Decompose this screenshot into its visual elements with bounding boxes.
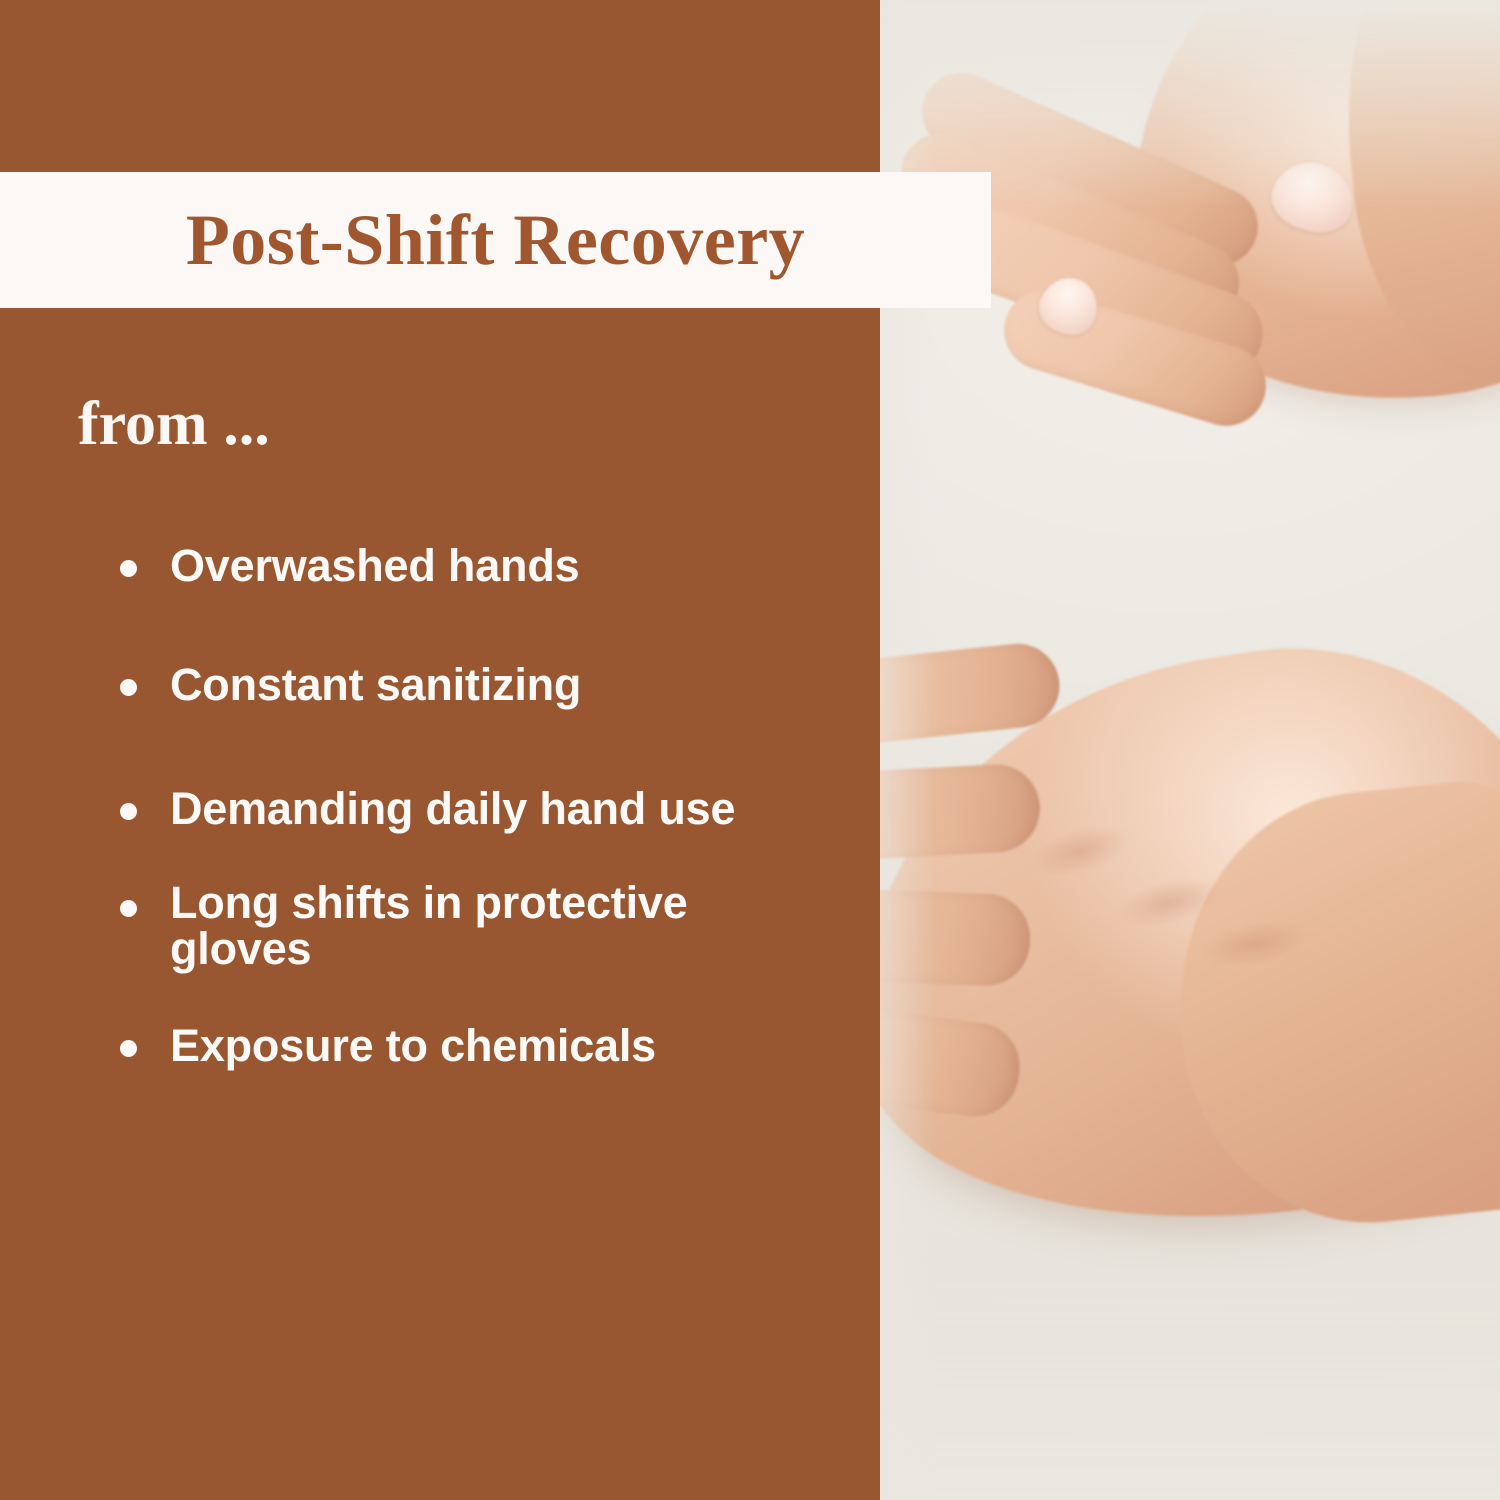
title-banner: Post-Shift Recovery <box>0 172 991 308</box>
concerns-list: Overwashed hands Constant sanitizing Dem… <box>108 540 828 1071</box>
list-item: Overwashed hands <box>108 540 828 591</box>
list-item: Long shifts in protective gloves <box>108 880 828 972</box>
list-item: Constant sanitizing <box>108 659 828 710</box>
poster-canvas: Post-Shift Recovery from ... Overwashed … <box>0 0 1500 1500</box>
list-item: Exposure to chemicals <box>108 1020 828 1071</box>
list-item: Demanding daily hand use <box>108 783 828 834</box>
page-title: Post-Shift Recovery <box>186 204 805 276</box>
lower-hand-finger <box>880 885 1032 987</box>
intro-lead: from ... <box>78 392 270 457</box>
